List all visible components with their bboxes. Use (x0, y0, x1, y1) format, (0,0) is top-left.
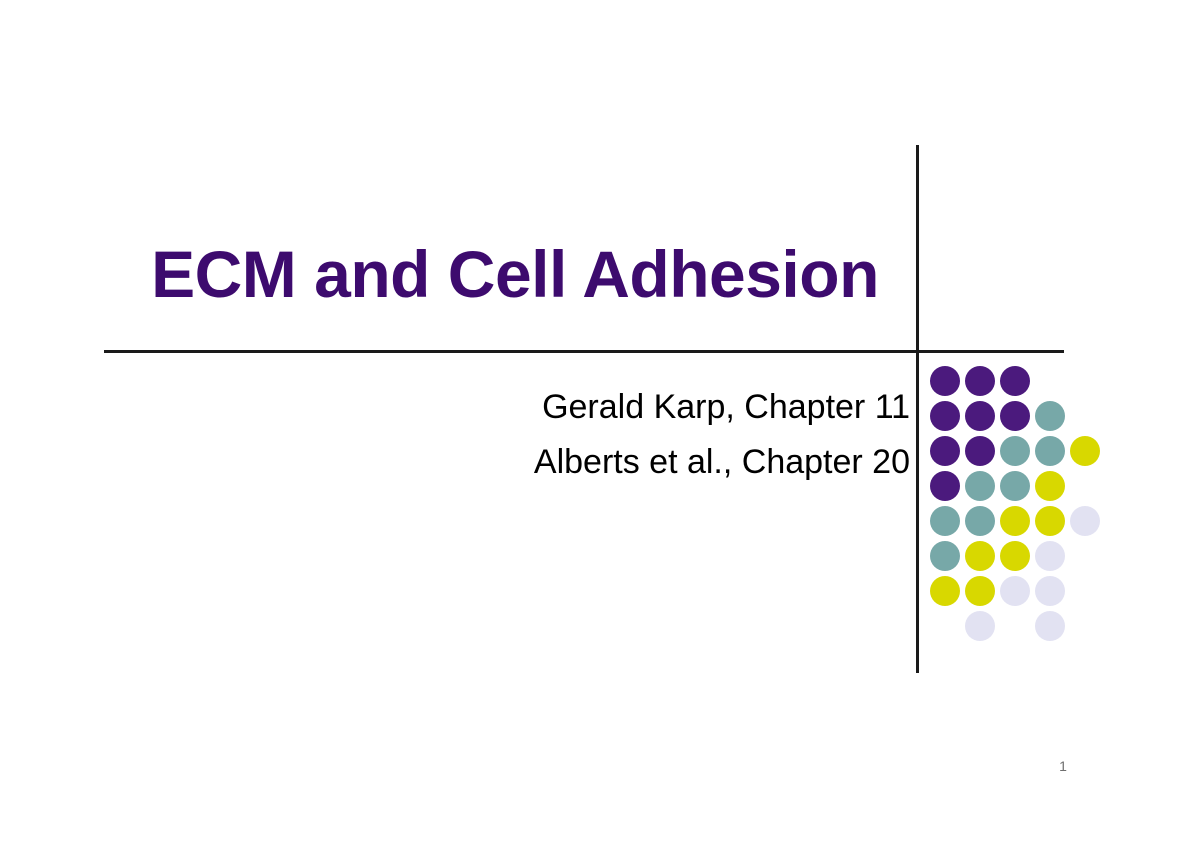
dot-teal (930, 506, 960, 536)
slide-title: ECM and Cell Adhesion (120, 240, 910, 309)
dot-yellow (1000, 541, 1030, 571)
dot-purple (930, 366, 960, 396)
dot-yellow (1035, 506, 1065, 536)
dot-teal (965, 471, 995, 501)
dot-teal (1035, 401, 1065, 431)
dot-purple (930, 471, 960, 501)
dot-teal (1000, 436, 1030, 466)
subtitle-line-1: Gerald Karp, Chapter 11 (110, 380, 910, 435)
dot-yellow (1035, 471, 1065, 501)
dot-purple (965, 366, 995, 396)
dot-yellow (1070, 436, 1100, 466)
dot-yellow (1000, 506, 1030, 536)
dot-purple (965, 436, 995, 466)
dot-purple (965, 401, 995, 431)
dot-purple (1000, 401, 1030, 431)
dot-yellow (965, 576, 995, 606)
dot-lavender (1070, 506, 1100, 536)
dot-teal (1035, 436, 1065, 466)
subtitle-line-2: Alberts et al., Chapter 20 (110, 435, 910, 490)
dot-lavender (1035, 541, 1065, 571)
dot-lavender (1035, 611, 1065, 641)
dot-purple (1000, 366, 1030, 396)
page-number: 1 (1048, 758, 1078, 774)
dot-lavender (965, 611, 995, 641)
dot-yellow (965, 541, 995, 571)
dot-purple (930, 401, 960, 431)
slide-canvas: ECM and Cell Adhesion Gerald Karp, Chapt… (0, 0, 1200, 848)
slide-subtitle: Gerald Karp, Chapter 11 Alberts et al., … (110, 380, 910, 490)
horizontal-divider-line (104, 350, 1064, 353)
dot-teal (965, 506, 995, 536)
dot-lavender (1000, 576, 1030, 606)
dot-teal (1000, 471, 1030, 501)
dot-purple (930, 436, 960, 466)
vertical-divider-line (916, 145, 919, 673)
dot-lavender (1035, 576, 1065, 606)
dot-teal (930, 541, 960, 571)
dot-yellow (930, 576, 960, 606)
decorative-dot-grid (930, 366, 1110, 636)
